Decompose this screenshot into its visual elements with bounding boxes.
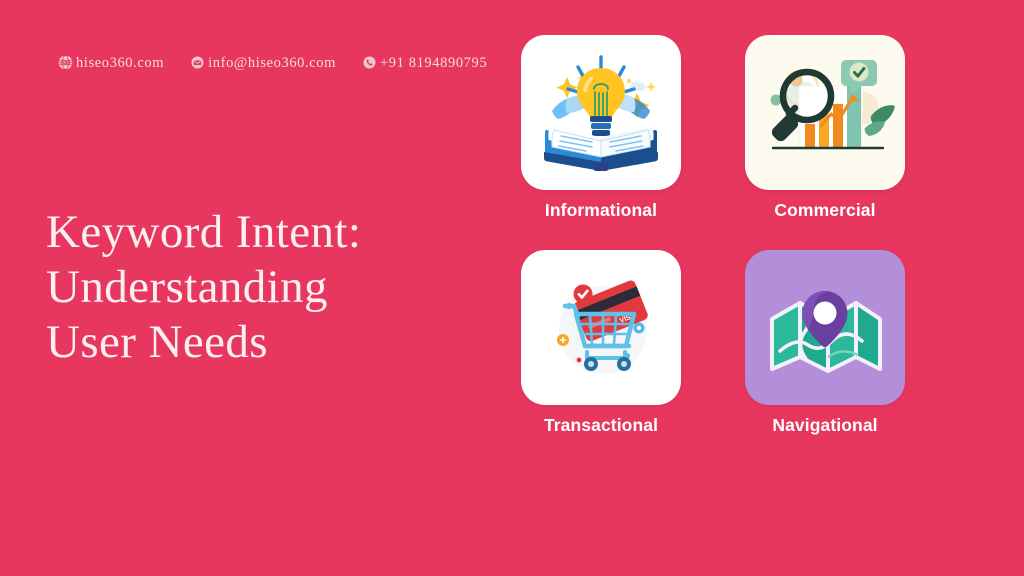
- contact-website[interactable]: SEO hiseo360.com: [58, 55, 164, 70]
- magnifying-glass-bar-chart-icon: [755, 48, 895, 178]
- intent-card-informational[interactable]: Informational: [521, 35, 681, 220]
- globe-seo-icon: SEO: [58, 55, 73, 70]
- phone-icon: [362, 55, 377, 70]
- page-title: Keyword Intent: Understanding User Needs: [46, 205, 476, 370]
- slide-canvas: SEO hiseo360.com info@hiseo360.com: [0, 0, 1024, 576]
- informational-label: Informational: [545, 202, 657, 220]
- contact-phone[interactable]: +91 8194890795: [362, 55, 487, 70]
- navigational-label: Navigational: [772, 417, 877, 435]
- transactional-label: Transactional: [544, 417, 658, 435]
- contact-email[interactable]: info@hiseo360.com: [190, 55, 336, 70]
- intent-card-transactional[interactable]: VISA: [521, 250, 681, 435]
- page-title-line-2: Understanding: [46, 260, 476, 315]
- page-title-line-3: User Needs: [46, 315, 476, 370]
- svg-text:SEO: SEO: [62, 61, 70, 65]
- contact-email-text: info@hiseo360.com: [208, 56, 336, 71]
- contact-website-text: hiseo360.com: [76, 56, 164, 71]
- envelope-icon: [190, 55, 205, 70]
- intent-card-commercial[interactable]: Commercial: [745, 35, 905, 220]
- navigational-tile[interactable]: [745, 250, 905, 405]
- contact-bar: SEO hiseo360.com info@hiseo360.com: [58, 55, 487, 70]
- lightbulb-open-book-icon: [534, 51, 668, 175]
- commercial-label: Commercial: [774, 202, 875, 220]
- transactional-tile[interactable]: VISA: [521, 250, 681, 405]
- intent-card-grid: Informational: [521, 35, 905, 434]
- commercial-tile[interactable]: [745, 35, 905, 190]
- informational-tile[interactable]: [521, 35, 681, 190]
- page-title-line-1: Keyword Intent:: [46, 205, 476, 260]
- map-location-pin-icon: [766, 271, 884, 383]
- intent-card-navigational[interactable]: Navigational: [745, 250, 905, 435]
- shopping-cart-credit-card-icon: VISA: [535, 264, 667, 390]
- contact-phone-text: +91 8194890795: [380, 56, 487, 71]
